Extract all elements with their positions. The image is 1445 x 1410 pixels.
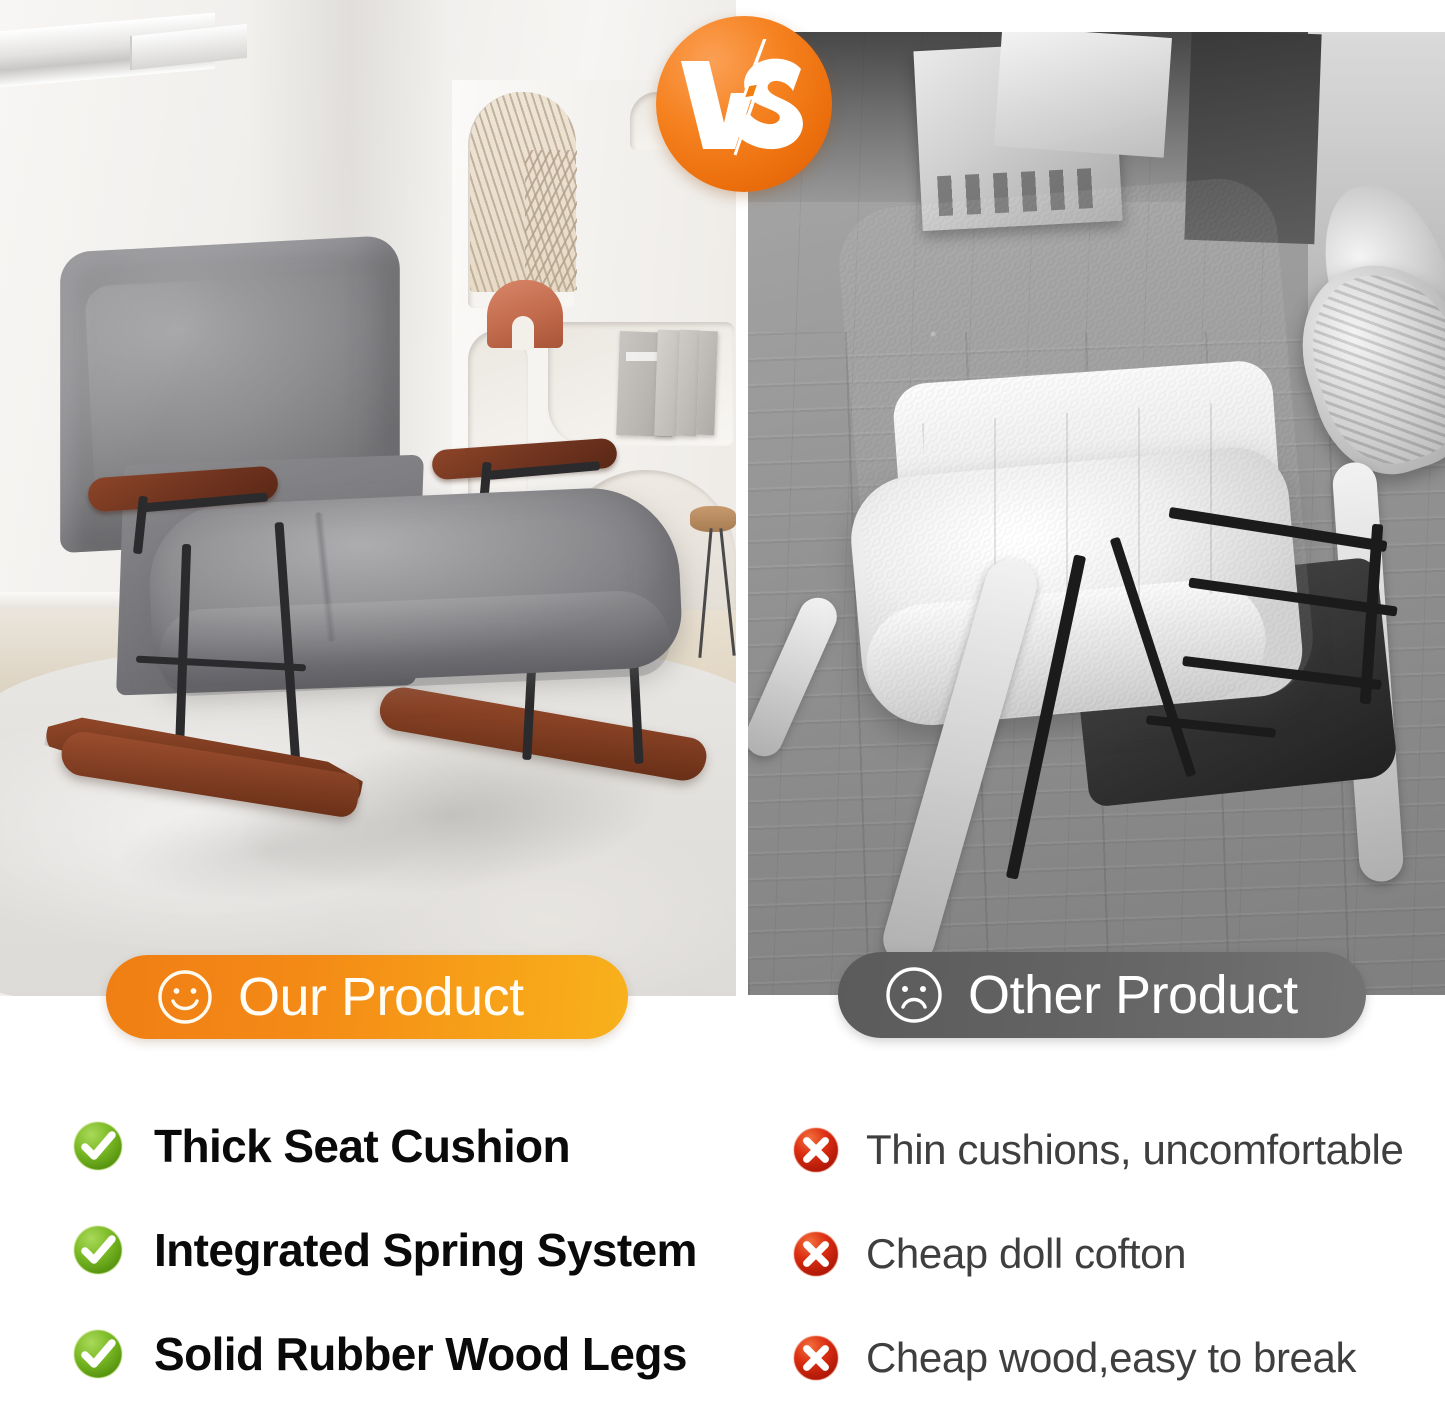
feature-row: Integrated Spring System xyxy=(72,1198,732,1302)
rug-shadow xyxy=(117,790,423,911)
green-check-icon xyxy=(72,1120,124,1172)
other-product-pill-label: Other Product xyxy=(968,968,1298,1022)
feature-label: Thin cushions, uncomfortable xyxy=(866,1129,1403,1171)
feature-label: Cheap wood,easy to break xyxy=(866,1337,1356,1379)
red-x-icon xyxy=(792,1230,840,1278)
feature-row: Solid Rubber Wood Legs xyxy=(72,1302,732,1406)
feature-row: Cheap doll cofton xyxy=(792,1202,1432,1306)
sad-face-icon xyxy=(884,965,944,1025)
feature-label: Integrated Spring System xyxy=(154,1227,697,1273)
feature-row: Thin cushions, uncomfortable xyxy=(792,1098,1432,1202)
other-product-photo xyxy=(748,32,1445,995)
red-x-icon xyxy=(792,1334,840,1382)
feature-label: Thick Seat Cushion xyxy=(154,1123,570,1169)
feature-label: Cheap doll cofton xyxy=(866,1233,1186,1275)
feature-row: Thick Seat Cushion xyxy=(72,1094,732,1198)
our-product-pill-label: Our Product xyxy=(238,970,524,1024)
vs-badge xyxy=(656,16,832,192)
feature-row: Cheap wood,easy to break xyxy=(792,1306,1432,1410)
green-check-icon xyxy=(72,1224,124,1276)
smiley-face-icon xyxy=(156,968,214,1026)
cardboard-box-lid xyxy=(994,32,1172,158)
vs-lightning-icon xyxy=(669,39,819,169)
green-check-icon xyxy=(72,1328,124,1380)
striped-art-panel-overlay xyxy=(525,150,577,290)
our-product-photo xyxy=(0,0,736,996)
book xyxy=(696,331,718,436)
our-product-feature-list: Thick Seat Cushion Integrated Spring Sys… xyxy=(72,1094,732,1406)
terracotta-vase-notch xyxy=(512,316,534,350)
other-product-feature-list: Thin cushions, uncomfortable Cheap doll … xyxy=(792,1098,1432,1410)
our-product-pill: Our Product xyxy=(106,955,628,1039)
boucle-fabric-texture xyxy=(834,174,1318,730)
other-product-pill: Other Product xyxy=(838,952,1366,1038)
feature-label: Solid Rubber Wood Legs xyxy=(154,1331,687,1377)
side-table xyxy=(690,506,736,532)
red-x-icon xyxy=(792,1126,840,1174)
